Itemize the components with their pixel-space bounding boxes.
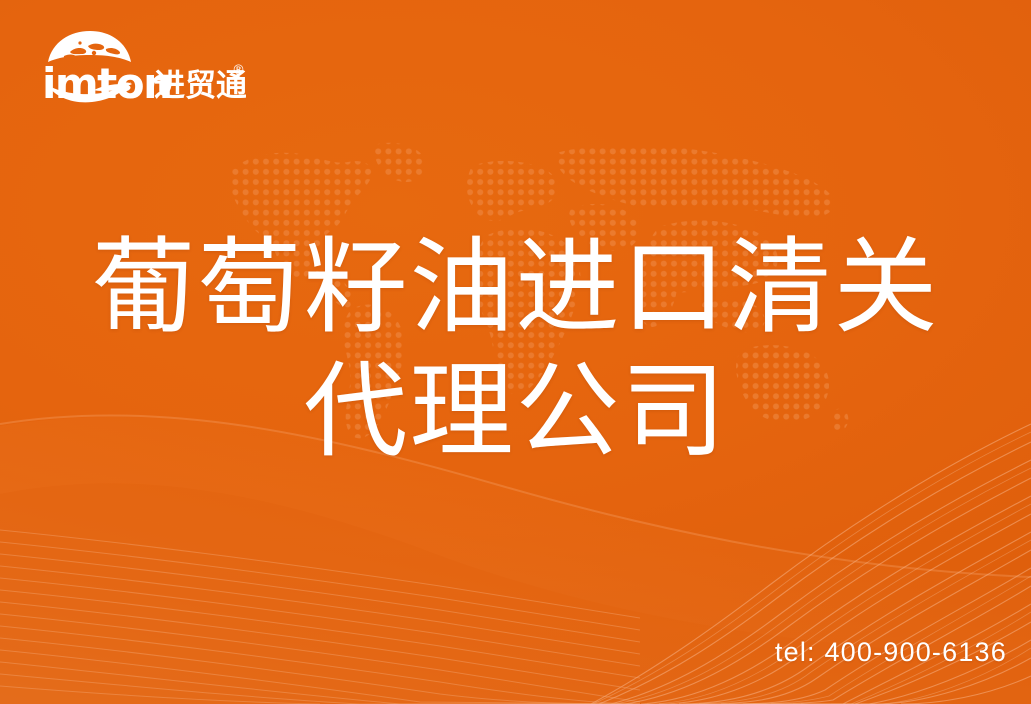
headline-block: 葡萄籽油进口清关 代理公司 xyxy=(0,225,1031,473)
logo-wordmark: imton xyxy=(42,59,172,104)
trademark-symbol: ® xyxy=(232,63,245,78)
company-logo[interactable]: imton 进贸通 ® xyxy=(36,28,246,104)
headline-line-2: 代理公司 xyxy=(0,349,1031,473)
globe-arc-icon xyxy=(48,31,131,62)
hatch-lines-left xyxy=(0,514,640,704)
promo-banner: imton 进贸通 ® 葡萄籽油进口清关 代理公司 tel: 400-900-6… xyxy=(0,0,1031,704)
headline-line-1: 葡萄籽油进口清关 xyxy=(0,225,1031,349)
telephone-label[interactable]: tel: 400-900-6136 xyxy=(775,637,1007,668)
